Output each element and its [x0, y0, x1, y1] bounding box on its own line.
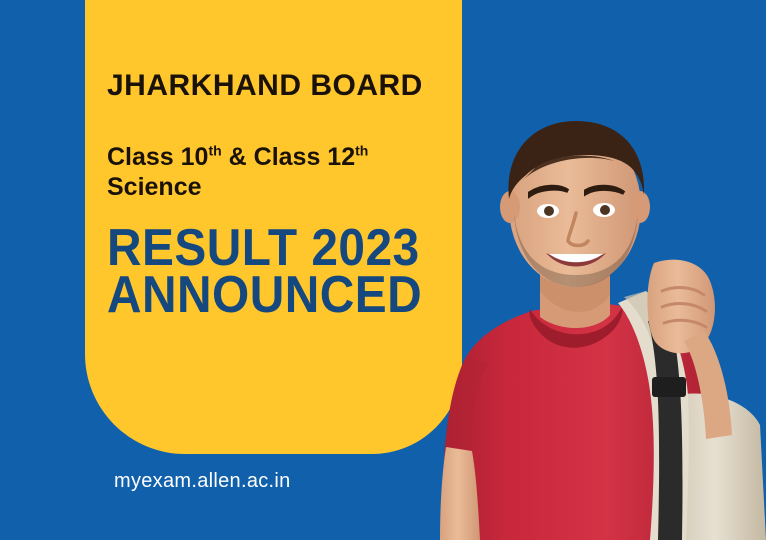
class-subtitle: Class 10th & Class 12th Science	[107, 142, 452, 203]
student-photo	[418, 95, 766, 540]
left-ear	[500, 191, 520, 223]
result-headline-line2: ANNOUNCED	[107, 272, 424, 320]
class-subtitle-middle: & Class 12	[222, 143, 355, 171]
student-illustration	[418, 95, 766, 540]
page-title: JHARKHAND BOARD	[107, 70, 452, 102]
text-content: JHARKHAND BOARD Class 10th & Class 12th …	[107, 70, 452, 320]
right-pupil	[600, 205, 610, 215]
result-headline-line1: RESULT 2023	[107, 225, 424, 273]
class-10-superscript: th	[208, 142, 221, 158]
result-announcement: RESULT 2023 ANNOUNCED	[107, 225, 452, 321]
result-announcement-banner: JHARKHAND BOARD Class 10th & Class 12th …	[0, 0, 766, 540]
left-pupil	[544, 206, 554, 216]
class-subtitle-part1: Class 10	[107, 143, 208, 171]
right-ear	[630, 191, 650, 223]
stream-label: Science	[107, 173, 202, 201]
class-12-superscript: th	[355, 142, 368, 158]
strap-buckle	[652, 377, 686, 397]
website-url[interactable]: myexam.allen.ac.in	[114, 470, 291, 493]
